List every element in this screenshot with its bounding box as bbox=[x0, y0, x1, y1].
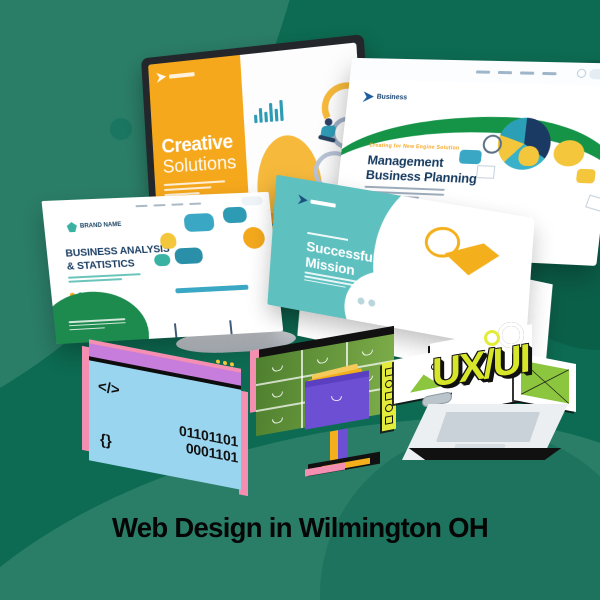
curly-brace-icon: {} bbox=[100, 431, 112, 450]
table-surface bbox=[176, 285, 249, 294]
analysis-body-lines bbox=[68, 273, 142, 285]
person-figure bbox=[577, 261, 600, 262]
page-title: Web Design in Wilmington OH bbox=[0, 512, 600, 544]
chat-bubble-icon bbox=[174, 247, 203, 264]
document-icon bbox=[585, 195, 600, 213]
brand-logo-icon bbox=[298, 194, 336, 210]
person-figure bbox=[195, 327, 217, 328]
person-figure bbox=[313, 117, 343, 147]
brand-logo-icon bbox=[156, 69, 195, 83]
code-window: </> {} 01101101 0001101 bbox=[82, 354, 248, 482]
filing-cabinet bbox=[250, 338, 400, 478]
background-dot bbox=[110, 118, 132, 140]
chat-bubble-icon bbox=[183, 213, 214, 232]
drawer-handle[interactable] bbox=[317, 357, 328, 364]
chat-bubble-icon bbox=[154, 253, 171, 266]
brand-logo-icon: BRAND NAME bbox=[66, 220, 122, 232]
person-figure bbox=[167, 329, 189, 330]
lightbulb-icon bbox=[518, 145, 540, 166]
nav-icon-button[interactable] bbox=[576, 69, 586, 78]
brand-logo-text: Business bbox=[376, 94, 407, 102]
drawer-handle[interactable] bbox=[331, 396, 342, 401]
chat-bubble-icon bbox=[576, 169, 596, 184]
nav-cta-button[interactable] bbox=[589, 69, 600, 80]
chat-bubble-icon bbox=[459, 149, 482, 164]
drawer-handle[interactable] bbox=[272, 391, 283, 398]
gear-icon bbox=[242, 226, 266, 249]
person-figure bbox=[545, 259, 567, 260]
callout-circle bbox=[42, 289, 154, 344]
nav-cta-button[interactable] bbox=[241, 196, 263, 206]
drawer-handle[interactable] bbox=[272, 365, 283, 372]
browser-window-analysis: BRAND NAME BUSINESS ANALYSIS & STATISTIC… bbox=[42, 192, 284, 344]
poster-canvas: Creative Solutions bbox=[0, 0, 600, 600]
uxui-laptop: UX/UI bbox=[388, 320, 584, 490]
chat-bubble-icon bbox=[223, 207, 248, 224]
brand-logo-text: BRAND NAME bbox=[80, 222, 122, 230]
drawer-handle[interactable] bbox=[272, 417, 283, 424]
blob-shape bbox=[552, 140, 586, 167]
laptop-keyboard[interactable] bbox=[436, 412, 540, 442]
brand-logo-icon: Business bbox=[363, 91, 408, 103]
creative-solutions-title: Creative Solutions bbox=[161, 132, 237, 177]
browser-nav-bar bbox=[350, 58, 600, 86]
creative-line2: Solutions bbox=[162, 153, 237, 177]
person-figure bbox=[248, 324, 269, 325]
document-icon bbox=[476, 165, 495, 179]
person-figure bbox=[223, 326, 245, 327]
drawer-handle[interactable] bbox=[362, 350, 373, 357]
laptop-base-shadow bbox=[402, 448, 568, 460]
lightbulb-icon bbox=[160, 233, 178, 250]
meeting-illustration bbox=[144, 206, 283, 339]
bar-chart-icon bbox=[253, 98, 284, 123]
